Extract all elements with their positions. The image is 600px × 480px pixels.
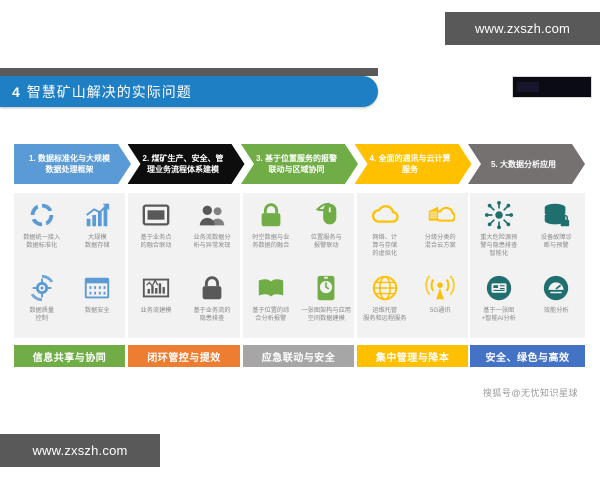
capability-item[interactable]: 5G通讯 <box>413 266 469 339</box>
capability-item-label: 业务流建模 <box>141 307 172 315</box>
capability-item[interactable]: 大规模数据存储 <box>70 193 126 266</box>
capability-item-label: 5G通讯 <box>430 307 451 315</box>
capability-item-label: 基于位置的综 <box>252 307 289 315</box>
capability-item-label: 合分析报警 <box>252 315 289 323</box>
capability-item-label: 数据安全 <box>85 307 110 315</box>
capability-item[interactable]: 网络、计算与存储的虚拟化 <box>357 193 413 266</box>
capability-item-label: 析与异常发现 <box>193 242 230 250</box>
outcome-tag-4[interactable]: 集中管理与降本 <box>357 345 468 367</box>
capability-item-label: 大规模 <box>85 234 110 242</box>
capability-panel-3: 时空数据与业务数据的融合位置服务与报警联动基于位置的综合分析报警一张图架构与应用… <box>243 193 354 338</box>
padlock-icon <box>197 273 227 303</box>
arrow-step-2[interactable]: 2. 煤矿生产、安全、管理业务流程体系建模 <box>128 144 245 184</box>
chart-monitor-icon <box>141 273 171 303</box>
capability-item-label: 数据统一接入 <box>23 234 60 242</box>
capability-item-label: 数据质量 <box>29 307 54 315</box>
capability-item-label: 业务流数据分 <box>193 234 230 242</box>
outcome-tag-2[interactable]: 闭环管控与提效 <box>128 345 240 367</box>
capability-item[interactable]: 数据质量控制 <box>14 266 70 339</box>
capability-item-label: 的虚拟化 <box>372 250 397 258</box>
users-group-icon <box>197 200 227 230</box>
capability-item-label: 空间数据建模 <box>302 315 352 323</box>
credit-text: 搜狐号@无忧知识星球 <box>483 386 578 399</box>
capability-panels: 数据统一接入数据标准化大规模数据存储数据质量控制数据安全基于业务点的融合联动业务… <box>14 193 585 338</box>
outcome-tag-label: 闭环管控与提效 <box>147 349 221 364</box>
capability-item[interactable]: 业务流数据分析与异常发现 <box>184 193 240 266</box>
capability-item-label: 警与隐患排查 <box>480 242 517 250</box>
capability-panel-5: 重大危险源预警与隐患排查智能化设备故障诊断与预警基于一张图+智能AI分析效能分析 <box>470 193 585 338</box>
gear-cycle-icon <box>27 273 57 303</box>
capability-item-label: 断与预警 <box>541 242 572 250</box>
computer-mouse-icon <box>311 200 341 230</box>
arrow-step-4[interactable]: 4. 全面的通讯与云计算服务 <box>355 144 472 184</box>
capability-item-label: 数据存储 <box>85 242 110 250</box>
capability-item[interactable]: 数据安全 <box>70 266 126 339</box>
outcome-tag-5[interactable]: 安全、绿色与高效 <box>470 345 585 367</box>
outcome-tag-label: 安全、绿色与高效 <box>486 349 570 364</box>
arrow-step-label-line1: 2. 煤矿生产、安全、管 <box>143 153 224 164</box>
capability-item-label: 控制 <box>29 315 54 323</box>
capability-item-label: 重大危险源预 <box>480 234 517 242</box>
performance-badge-icon <box>541 273 571 303</box>
capability-item[interactable]: 分级分类的混合云方案 <box>413 193 469 266</box>
redacted-box <box>512 76 592 98</box>
arrow-steps: 1. 数据标准化与大规模数据处理框架2. 煤矿生产、安全、管理业务流程体系建模3… <box>14 144 585 184</box>
capability-item[interactable]: 重大危险源预警与隐患排查智能化 <box>470 193 528 266</box>
arrow-step-label-line1: 4. 全面的通讯与云计算 <box>370 153 451 164</box>
globe-grid-icon <box>370 273 400 303</box>
capability-item-label: 效能分析 <box>544 307 569 315</box>
capability-item-label: 算与存储 <box>372 242 397 250</box>
capability-item-label: 设备故障诊 <box>541 234 572 242</box>
capability-item-label: 智能化 <box>480 250 517 258</box>
outcome-tag-label: 应急联动与安全 <box>262 349 336 364</box>
capability-item[interactable]: 业务流建模 <box>128 266 184 339</box>
title-strip <box>0 68 378 76</box>
cloud-icon <box>370 200 400 230</box>
capability-item-label: 网络、计 <box>372 234 397 242</box>
slide-canvas: www.zxszh.com www.zxszh.com 4 智慧矿山解决的实际问… <box>0 0 600 480</box>
capability-item[interactable]: 运维托管服务和远程服务 <box>357 266 413 339</box>
outcome-tags: 信息共享与协同闭环管控与提效应急联动与安全集中管理与降本安全、绿色与高效 <box>14 345 585 367</box>
capability-panel-4: 网络、计算与存储的虚拟化分级分类的混合云方案运维托管服务和远程服务5G通讯 <box>357 193 468 338</box>
watermark-bottom: www.zxszh.com <box>0 434 160 467</box>
capability-item[interactable]: 效能分析 <box>528 266 586 339</box>
page-title: 4 智慧矿山解决的实际问题 <box>0 76 378 107</box>
capability-item-label: 混合云方案 <box>425 242 456 250</box>
arrow-step-label-line1: 1. 数据标准化与大规模 <box>29 153 110 164</box>
capability-item-label: 一张图架构与应用 <box>302 307 352 315</box>
title-text: 智慧矿山解决的实际问题 <box>27 82 192 102</box>
arrow-step-label-line2: 服务 <box>370 164 451 175</box>
capability-item[interactable]: 基于业务流的隐患排查 <box>184 266 240 339</box>
capability-item[interactable]: 基于一张图+智能AI分析 <box>470 266 528 339</box>
capability-item-label: +智能AI分析 <box>482 315 516 323</box>
padlock-icon <box>256 200 286 230</box>
capability-item-label: 分级分类的 <box>425 234 456 242</box>
capability-item[interactable]: 一张图架构与应用空间数据建模 <box>299 266 355 339</box>
capability-panel-1: 数据统一接入数据标准化大规模数据存储数据质量控制数据安全 <box>14 193 125 338</box>
bar-chart-growth-icon <box>82 200 112 230</box>
map-badge-icon <box>484 273 514 303</box>
capability-item-label: 基于一张图 <box>482 307 516 315</box>
node-burst-icon <box>484 200 514 230</box>
outcome-tag-label: 信息共享与协同 <box>33 349 107 364</box>
capability-item[interactable]: 基于业务点的融合联动 <box>128 193 184 266</box>
capability-item-label: 时空数据与业 <box>252 234 289 242</box>
outcome-tag-1[interactable]: 信息共享与协同 <box>14 345 125 367</box>
arrow-step-1[interactable]: 1. 数据标准化与大规模数据处理框架 <box>14 144 131 184</box>
capability-item[interactable]: 位置服务与报警联动 <box>299 193 355 266</box>
arrow-step-label-line2: 联动与区域协同 <box>256 164 337 175</box>
outcome-tag-label: 集中管理与降本 <box>376 349 450 364</box>
capability-item-label: 隐患排查 <box>193 315 230 323</box>
capability-item-label: 务数据的融合 <box>252 242 289 250</box>
capability-item-label: 位置服务与 <box>311 234 342 242</box>
cloud-server-icon <box>425 200 455 230</box>
tablet-timer-icon <box>311 273 341 303</box>
arrow-step-label-line1: 5. 大数据分析应用 <box>491 159 556 170</box>
arrow-step-5[interactable]: 5. 大数据分析应用 <box>468 144 585 184</box>
capability-item-label: 数据标准化 <box>23 242 60 250</box>
data-table-icon <box>82 273 112 303</box>
window-screen-icon <box>141 200 171 230</box>
capability-item[interactable]: 设备故障诊断与预警 <box>528 193 586 266</box>
capability-item[interactable]: 数据统一接入数据标准化 <box>14 193 70 266</box>
capability-panel-2: 基于业务点的融合联动业务流数据分析与异常发现业务流建模基于业务流的隐患排查 <box>128 193 240 338</box>
signal-tower-icon <box>425 273 455 303</box>
capability-item[interactable]: 基于位置的综合分析报警 <box>243 266 299 339</box>
title-number: 4 <box>12 84 20 100</box>
capability-item-label: 运维托管 <box>363 307 406 315</box>
arrow-step-3[interactable]: 3. 基于位置服务的报警联动与区域协同 <box>241 144 358 184</box>
watermark-top: www.zxszh.com <box>445 12 600 45</box>
arrow-step-label-line2: 数据处理框架 <box>29 164 110 175</box>
capability-item-label: 报警联动 <box>311 242 342 250</box>
open-book-icon <box>256 273 286 303</box>
refresh-cycle-icon <box>27 200 57 230</box>
capability-item-label: 基于业务点 <box>141 234 172 242</box>
outcome-tag-3[interactable]: 应急联动与安全 <box>243 345 354 367</box>
capability-item-label: 的融合联动 <box>141 242 172 250</box>
capability-item-label: 基于业务流的 <box>193 307 230 315</box>
arrow-step-label-line1: 3. 基于位置服务的报警 <box>256 153 337 164</box>
capability-item[interactable]: 时空数据与业务数据的融合 <box>243 193 299 266</box>
database-lock-icon <box>541 200 571 230</box>
arrow-step-label-line2: 理业务流程体系建模 <box>143 164 224 175</box>
capability-item-label: 服务和远程服务 <box>363 315 406 323</box>
